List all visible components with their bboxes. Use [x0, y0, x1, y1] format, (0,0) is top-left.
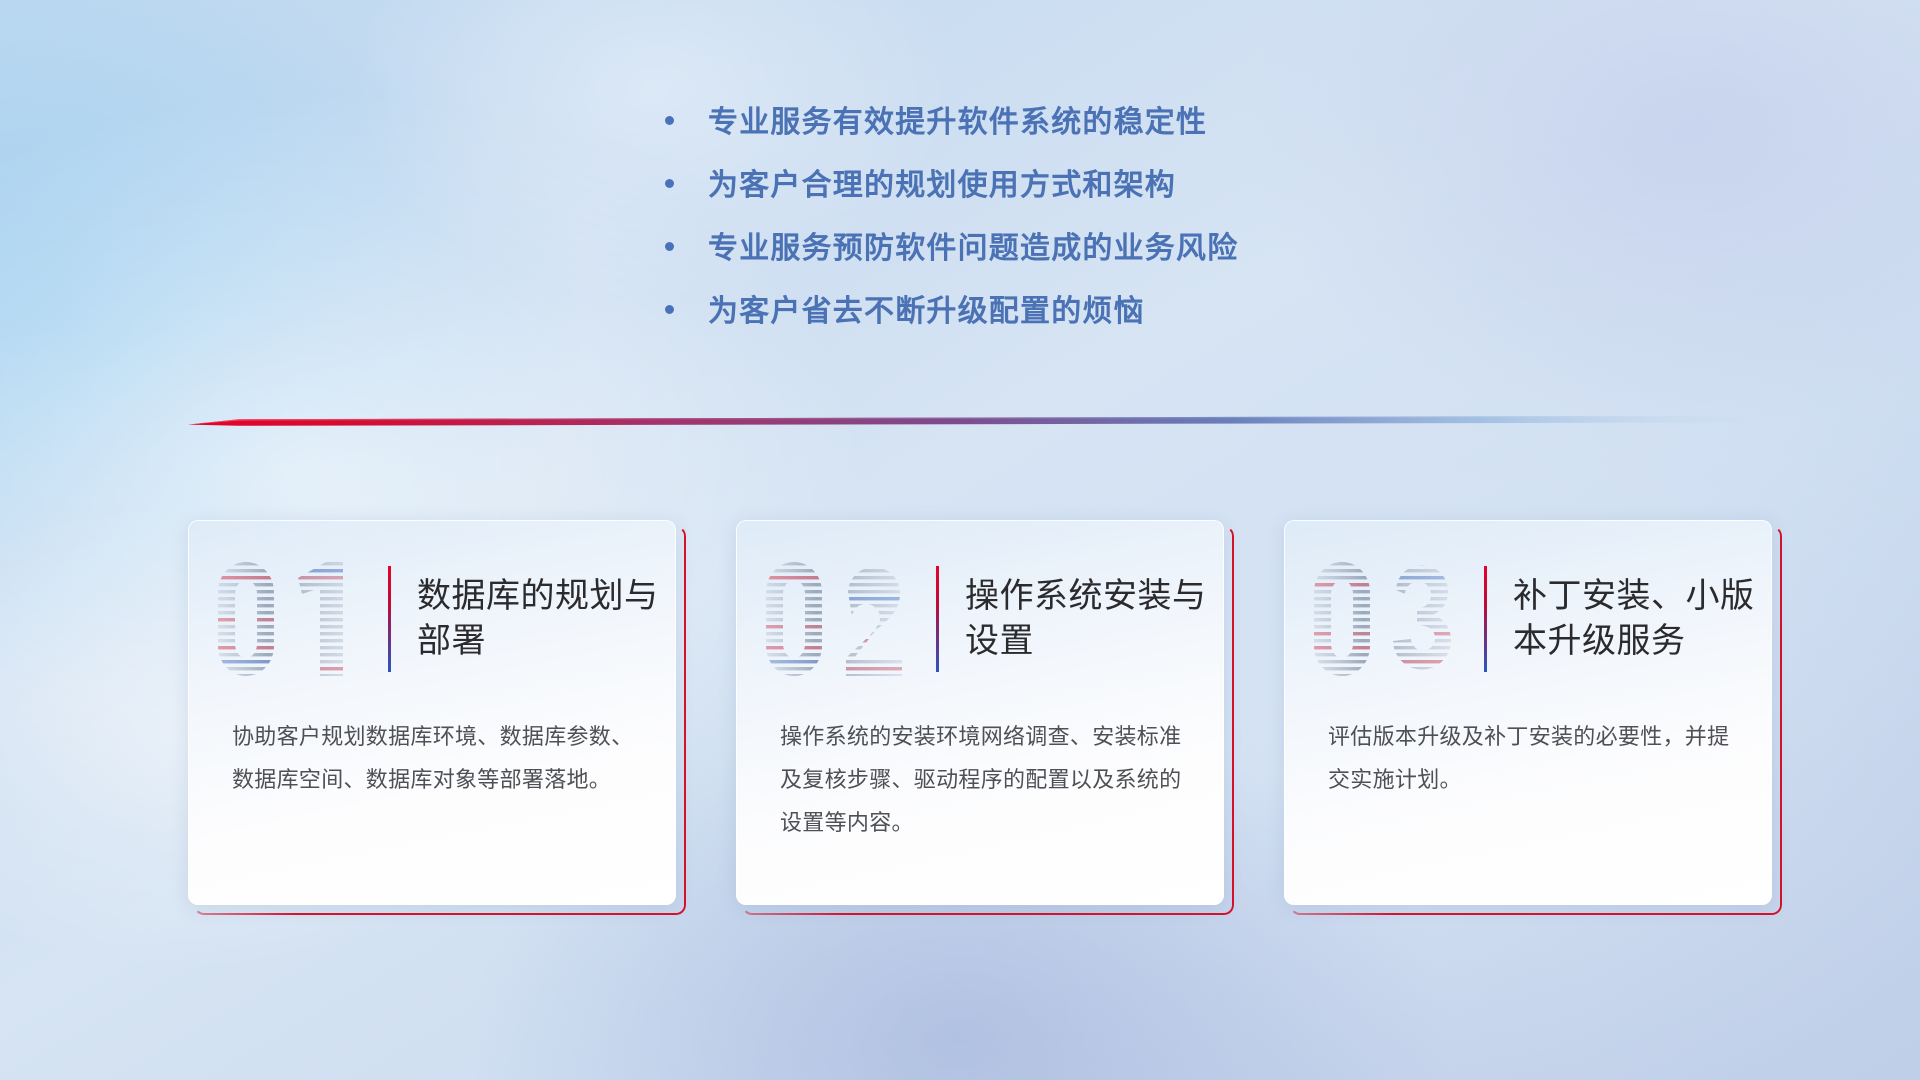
- card-01[interactable]: 数据库的规划与部署 协助客户规划数据库环境、数据库参数、数据库空间、数据库对象等…: [188, 520, 676, 905]
- bullet-text: 专业服务预防软件问题造成的业务风险: [708, 234, 1238, 264]
- bullet-dot-icon: [665, 242, 674, 251]
- card-title: 操作系统安装与设置: [965, 574, 1224, 664]
- card-title: 数据库的规划与部署: [417, 574, 676, 664]
- card-title: 补丁安装、小版本升级服务: [1513, 574, 1772, 664]
- card-body-text: 协助客户规划数据库环境、数据库参数、数据库空间、数据库对象等部署落地。: [232, 716, 634, 802]
- bullet-dot-icon: [665, 179, 674, 188]
- bullet-text: 为客户省去不断升级配置的烦恼: [708, 297, 1145, 327]
- list-item: 专业服务有效提升软件系统的稳定性: [665, 108, 1425, 171]
- card-divider-bar: [1484, 566, 1487, 672]
- slide-canvas: 专业服务有效提升软件系统的稳定性 为客户合理的规划使用方式和架构 专业服务预防软…: [0, 0, 1920, 1080]
- card-divider-bar: [936, 566, 939, 672]
- bullet-list: 专业服务有效提升软件系统的稳定性 为客户合理的规划使用方式和架构 专业服务预防软…: [665, 108, 1425, 360]
- card-02[interactable]: 操作系统安装与设置 操作系统的安装环境网络调查、安装标准及复核步骤、驱动程序的配…: [736, 520, 1224, 905]
- card-number-03-glyph: [1304, 558, 1476, 680]
- bullet-text: 为客户合理的规划使用方式和架构: [708, 171, 1176, 201]
- list-item: 为客户省去不断升级配置的烦恼: [665, 297, 1425, 360]
- card-surface: 数据库的规划与部署 协助客户规划数据库环境、数据库参数、数据库空间、数据库对象等…: [188, 520, 676, 905]
- list-item: 为客户合理的规划使用方式和架构: [665, 171, 1425, 234]
- card-03[interactable]: 补丁安装、小版本升级服务 评估版本升级及补丁安装的必要性，并提交实施计划。: [1284, 520, 1772, 905]
- card-header: 补丁安装、小版本升级服务: [1284, 554, 1772, 684]
- bullet-dot-icon: [665, 305, 674, 314]
- card-number-02-glyph: [756, 558, 928, 680]
- card-body-text: 评估版本升级及补丁安装的必要性，并提交实施计划。: [1328, 716, 1730, 802]
- card-header: 数据库的规划与部署: [188, 554, 676, 684]
- card-number-01-glyph: [208, 558, 380, 680]
- bullet-text: 专业服务有效提升软件系统的稳定性: [708, 108, 1207, 138]
- card-divider-bar: [388, 566, 391, 672]
- bullet-dot-icon: [665, 116, 674, 125]
- list-item: 专业服务预防软件问题造成的业务风险: [665, 234, 1425, 297]
- gradient-divider: [188, 412, 1768, 434]
- card-body-text: 操作系统的安装环境网络调查、安装标准及复核步骤、驱动程序的配置以及系统的设置等内…: [780, 716, 1182, 845]
- card-row: 数据库的规划与部署 协助客户规划数据库环境、数据库参数、数据库空间、数据库对象等…: [188, 520, 1772, 910]
- card-surface: 操作系统安装与设置 操作系统的安装环境网络调查、安装标准及复核步骤、驱动程序的配…: [736, 520, 1224, 905]
- card-header: 操作系统安装与设置: [736, 554, 1224, 684]
- card-surface: 补丁安装、小版本升级服务 评估版本升级及补丁安装的必要性，并提交实施计划。: [1284, 520, 1772, 905]
